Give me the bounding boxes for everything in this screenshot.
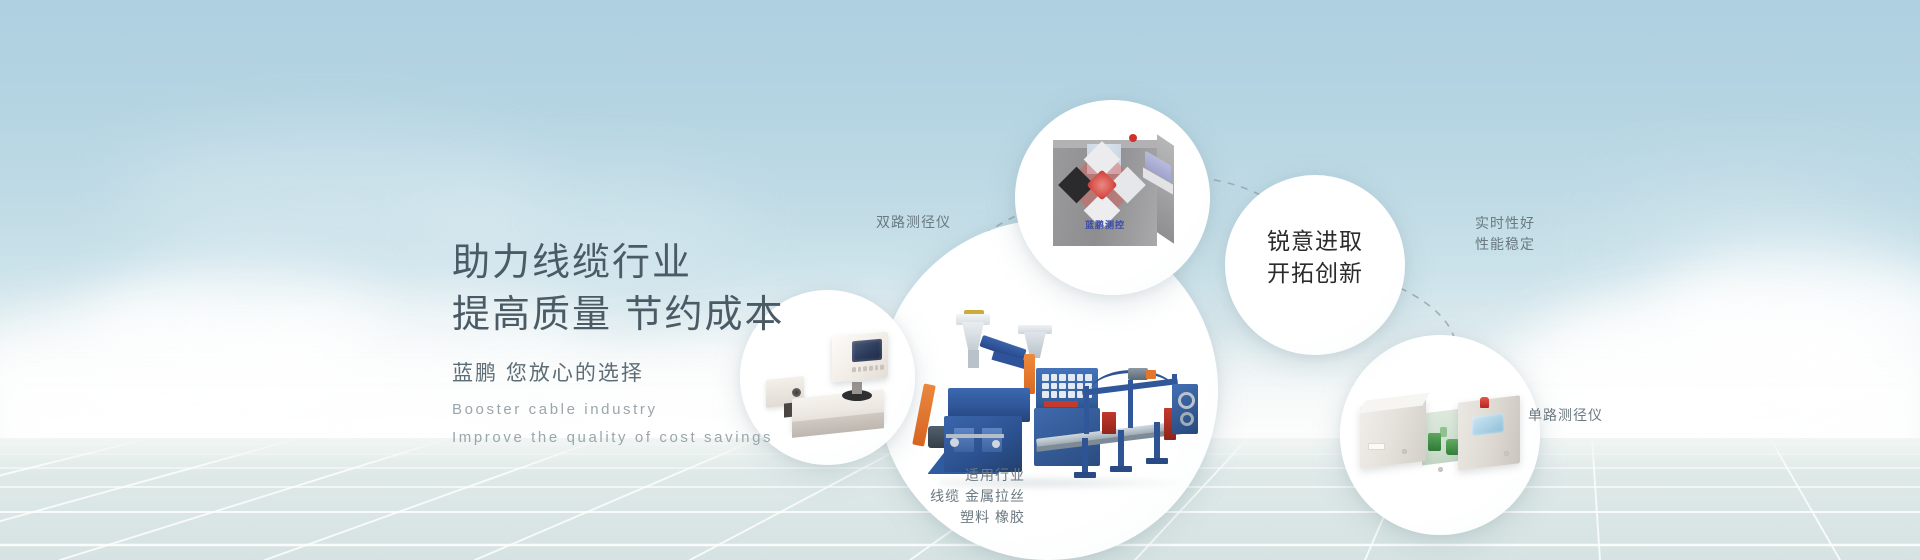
internal-optic — [1440, 427, 1447, 437]
red-tank — [1102, 412, 1116, 434]
housing-bolt — [1402, 449, 1407, 454]
label-industries: 适用行业 线缆 金属拉丝 塑料 橡胶 — [825, 465, 1025, 528]
monitor-screen — [852, 339, 882, 363]
english-tagline-1: Booster cable industry — [452, 401, 785, 418]
gantry-trolley — [1128, 368, 1148, 380]
bubble-slogan: 锐意进取 开拓创新 — [1225, 175, 1405, 355]
sensor-lens — [792, 388, 801, 397]
hopper-neck — [968, 350, 979, 368]
english-tagline-2: Improve the quality of cost savings — [452, 429, 785, 446]
power-indicator-light — [1129, 134, 1137, 142]
headline-line-2: 提高质量 节约成本 — [452, 289, 785, 341]
take-up-reel — [1178, 392, 1195, 409]
trough-foot — [1074, 472, 1096, 478]
bubble-single-gauge[interactable] — [1340, 335, 1540, 535]
industry-line-2: 塑料 橡胶 — [825, 507, 1025, 528]
monitor-stand — [852, 382, 862, 394]
slogan-line-2: 开拓创新 — [1225, 257, 1405, 289]
nameplate — [1368, 443, 1385, 450]
feature-line-1: 实时性好 — [1475, 213, 1535, 234]
sub-headline: 蓝鹏 您放心的选择 — [452, 357, 785, 387]
extruder-panel-right — [982, 428, 1002, 452]
trough-leg — [1118, 430, 1124, 470]
bubble-dual-gauge[interactable]: 蓝鹏测控 — [1015, 100, 1210, 295]
material-hopper — [962, 322, 984, 352]
trough-foot — [1110, 466, 1132, 472]
gantry-post — [1128, 380, 1133, 428]
extruder-nozzle-b — [992, 440, 1000, 448]
alarm-lamp — [1480, 397, 1489, 408]
trough-leg — [1154, 422, 1160, 462]
single-gauge-artwork — [1360, 389, 1526, 481]
feature-line-2: 性能稳定 — [1475, 234, 1535, 255]
gauge-display-screen — [1472, 413, 1504, 436]
product-brand-mark: 蓝鹏测控 — [1053, 218, 1157, 231]
label-features: 实时性好 性能稳定 — [1475, 213, 1535, 255]
slogan-line-1: 锐意进取 — [1225, 225, 1405, 257]
extruder-nozzle-a — [950, 438, 959, 447]
trough-foot — [1146, 458, 1168, 464]
headline-line-1: 助力线缆行业 — [452, 237, 785, 289]
take-up-reel-secondary — [1180, 412, 1194, 426]
trough-leg — [1082, 438, 1088, 476]
hero-banner: 助力线缆行业 提高质量 节约成本 蓝鹏 您放心的选择 Booster cable… — [0, 0, 1920, 560]
industry-title: 适用行业 — [825, 465, 1025, 486]
banner-text-block: 助力线缆行业 提高质量 节约成本 蓝鹏 您放心的选择 Booster cable… — [452, 237, 785, 446]
housing-bolt — [1504, 451, 1509, 456]
green-sensor-left — [1428, 433, 1441, 451]
label-single-gauge: 单路测径仪 — [1528, 405, 1603, 426]
gantry-post — [1084, 386, 1089, 434]
single-gauge-illustration — [1340, 335, 1540, 535]
cabinet-label-strip — [1044, 401, 1078, 407]
dual-gauge-illustration: 蓝鹏测控 — [1015, 100, 1210, 295]
slogan-text: 锐意进取 开拓创新 — [1225, 225, 1405, 289]
industry-line-1: 线缆 金属拉丝 — [825, 486, 1025, 507]
label-dual-gauge: 双路测径仪 — [876, 212, 951, 233]
trolley-indicator — [1146, 370, 1156, 379]
product-composition: 蓝鹏测控 — [880, 60, 1920, 540]
housing-bolt — [1438, 467, 1443, 472]
